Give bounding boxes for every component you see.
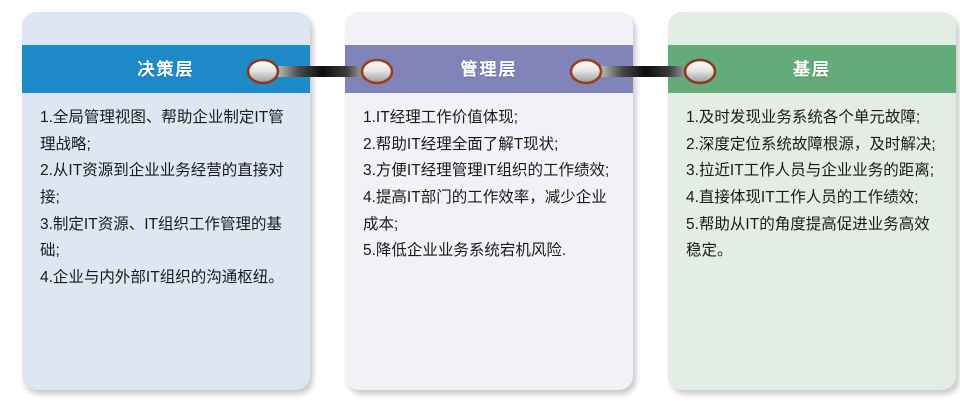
card-line: 3.方便IT经理管理IT组织的工作绩效; [363, 158, 617, 185]
card-body-decision-layer: 1.全局管理视图、帮助企业制定IT管理战略; 2.从IT资源到企业业务经营的直接… [22, 93, 310, 302]
card-management-layer[interactable]: 管理层 1.IT经理工作价值体现; 2.帮助IT经理全面了解T现状; 3.方便I… [345, 12, 633, 390]
card-body-management-layer: 1.IT经理工作价值体现; 2.帮助IT经理全面了解T现状; 3.方便IT经理管… [345, 93, 633, 275]
card-line: 4.提高IT部门的工作效率，减少企业成本; [363, 185, 617, 238]
card-line: 2.从IT资源到企业业务经营的直接对接; [40, 158, 294, 211]
card-header-base-layer: 基层 [668, 45, 956, 93]
card-header-decision-layer: 决策层 [22, 45, 310, 93]
three-tier-diagram: 决策层 1.全局管理视图、帮助企业制定IT管理战略; 2.从IT资源到企业业务经… [0, 0, 960, 416]
card-line: 4.直接体现IT工作人员的工作绩效; [686, 185, 940, 212]
card-title-base-layer: 基层 [793, 61, 831, 78]
card-line: 5.帮助从IT的角度提高促进业务高效稳定。 [686, 212, 940, 265]
card-line: 2.深度定位系统故障根源，及时解决; [686, 132, 940, 159]
card-line: 1.及时发现业务系统各个单元故障; [686, 105, 940, 132]
card-base-layer[interactable]: 基层 1.及时发现业务系统各个单元故障; 2.深度定位系统故障根源，及时解决; … [668, 12, 956, 390]
card-line: 3.制定IT资源、IT组织工作管理的基础; [40, 212, 294, 265]
card-line: 1.IT经理工作价值体现; [363, 105, 617, 132]
card-line: 3.拉近IT工作人员与企业业务的距离; [686, 158, 940, 185]
card-body-base-layer: 1.及时发现业务系统各个单元故障; 2.深度定位系统故障根源，及时解决; 3.拉… [668, 93, 956, 275]
card-line: 5.降低企业业务系统宕机风险. [363, 238, 617, 265]
card-title-management-layer: 管理层 [461, 61, 518, 78]
card-header-management-layer: 管理层 [345, 45, 633, 93]
card-line: 2.帮助IT经理全面了解T现状; [363, 132, 617, 159]
card-decision-layer[interactable]: 决策层 1.全局管理视图、帮助企业制定IT管理战略; 2.从IT资源到企业业务经… [22, 12, 310, 390]
card-line: 1.全局管理视图、帮助企业制定IT管理战略; [40, 105, 294, 158]
card-title-decision-layer: 决策层 [138, 61, 195, 78]
card-line: 4.企业与内外部IT组织的沟通枢纽。 [40, 265, 294, 292]
